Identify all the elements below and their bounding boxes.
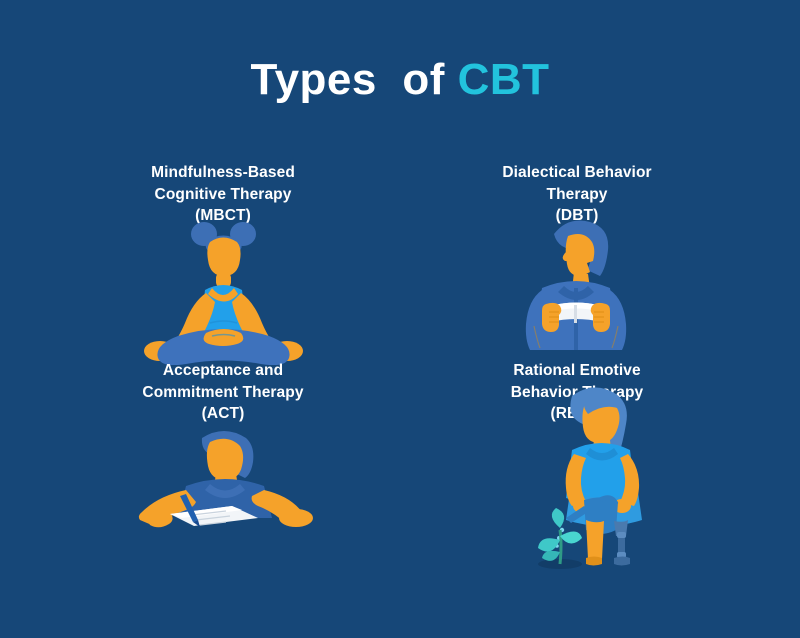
therapy-label-line: (DBT)	[392, 205, 762, 227]
therapy-card-rebt: Rational Emotive Behavior Therapy (REBT)	[392, 360, 762, 570]
page-title-accent: CBT	[458, 55, 550, 104]
therapy-card-mbct: Mindfulness-Based Cognitive Therapy (MBC…	[38, 162, 408, 372]
therapy-label-line: Rational Emotive	[392, 360, 762, 382]
therapy-label-line: (REBT)	[392, 403, 762, 425]
therapy-label-line: Therapy	[392, 184, 762, 206]
therapy-type-grid: Mindfulness-Based Cognitive Therapy (MBC…	[0, 150, 800, 580]
therapy-label-rebt: Rational Emotive Behavior Therapy (REBT)	[392, 360, 762, 425]
therapy-label-line: Behavior Therapy	[392, 382, 762, 404]
therapy-label-line: Commitment Therapy	[38, 382, 408, 404]
therapy-label-mbct: Mindfulness-Based Cognitive Therapy (MBC…	[38, 162, 408, 227]
therapy-label-line: Dialectical Behavior	[392, 162, 762, 184]
therapy-card-act: Acceptance and Commitment Therapy (ACT)	[38, 360, 408, 570]
poster-canvas: Types of CBT Mindfulness-Based Cognitive…	[0, 0, 800, 600]
therapy-card-dbt: Dialectical Behavior Therapy (DBT)	[392, 162, 762, 372]
therapy-label-dbt: Dialectical Behavior Therapy (DBT)	[392, 162, 762, 227]
therapy-label-line: (ACT)	[38, 403, 408, 425]
therapy-label-line: Mindfulness-Based	[38, 162, 408, 184]
page-title-main: Types of	[250, 55, 457, 104]
page-title: Types of CBT	[0, 58, 800, 102]
therapy-label-act: Acceptance and Commitment Therapy (ACT)	[38, 360, 408, 425]
therapy-label-line: (MBCT)	[38, 205, 408, 227]
therapy-label-line: Cognitive Therapy	[38, 184, 408, 206]
therapy-label-line: Acceptance and	[38, 360, 408, 382]
